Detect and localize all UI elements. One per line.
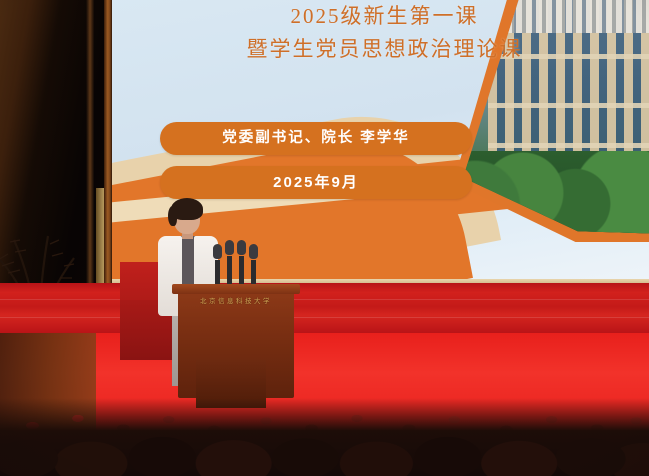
- building-band: [488, 143, 649, 148]
- microphone-head: [213, 244, 222, 259]
- microphone-head: [225, 240, 234, 255]
- podium-top-surface: [172, 284, 300, 294]
- screen-frame: [104, 0, 112, 284]
- building-band: [488, 103, 649, 108]
- skirt-seam: [0, 317, 649, 318]
- microphone-head: [249, 244, 258, 259]
- podium-nameplate: 北京信息科技大学: [188, 294, 284, 310]
- foreground-flowers: [0, 370, 649, 476]
- speaker-hair-side: [168, 206, 177, 226]
- microphone-head: [237, 240, 246, 255]
- stage-skirt: [0, 283, 649, 335]
- skirt-seam: [0, 299, 649, 300]
- microphone-cluster: [207, 238, 263, 290]
- slide-title: 2025级新生第一课 暨学生党员思想政治理论课: [112, 0, 649, 65]
- auditorium-photo: 2025级新生第一课 暨学生党员思想政治理论课 党委副书记、院长 李学华 202…: [0, 0, 649, 476]
- slide-title-line-1: 2025级新生第一课: [291, 4, 479, 28]
- flower-foliage: [0, 398, 649, 476]
- slide-title-line-2: 暨学生党员思想政治理论课: [112, 33, 649, 66]
- slide-pill-date: 2025年9月: [160, 166, 472, 199]
- slide-pill-speaker: 党委副书记、院长 李学华: [160, 122, 472, 155]
